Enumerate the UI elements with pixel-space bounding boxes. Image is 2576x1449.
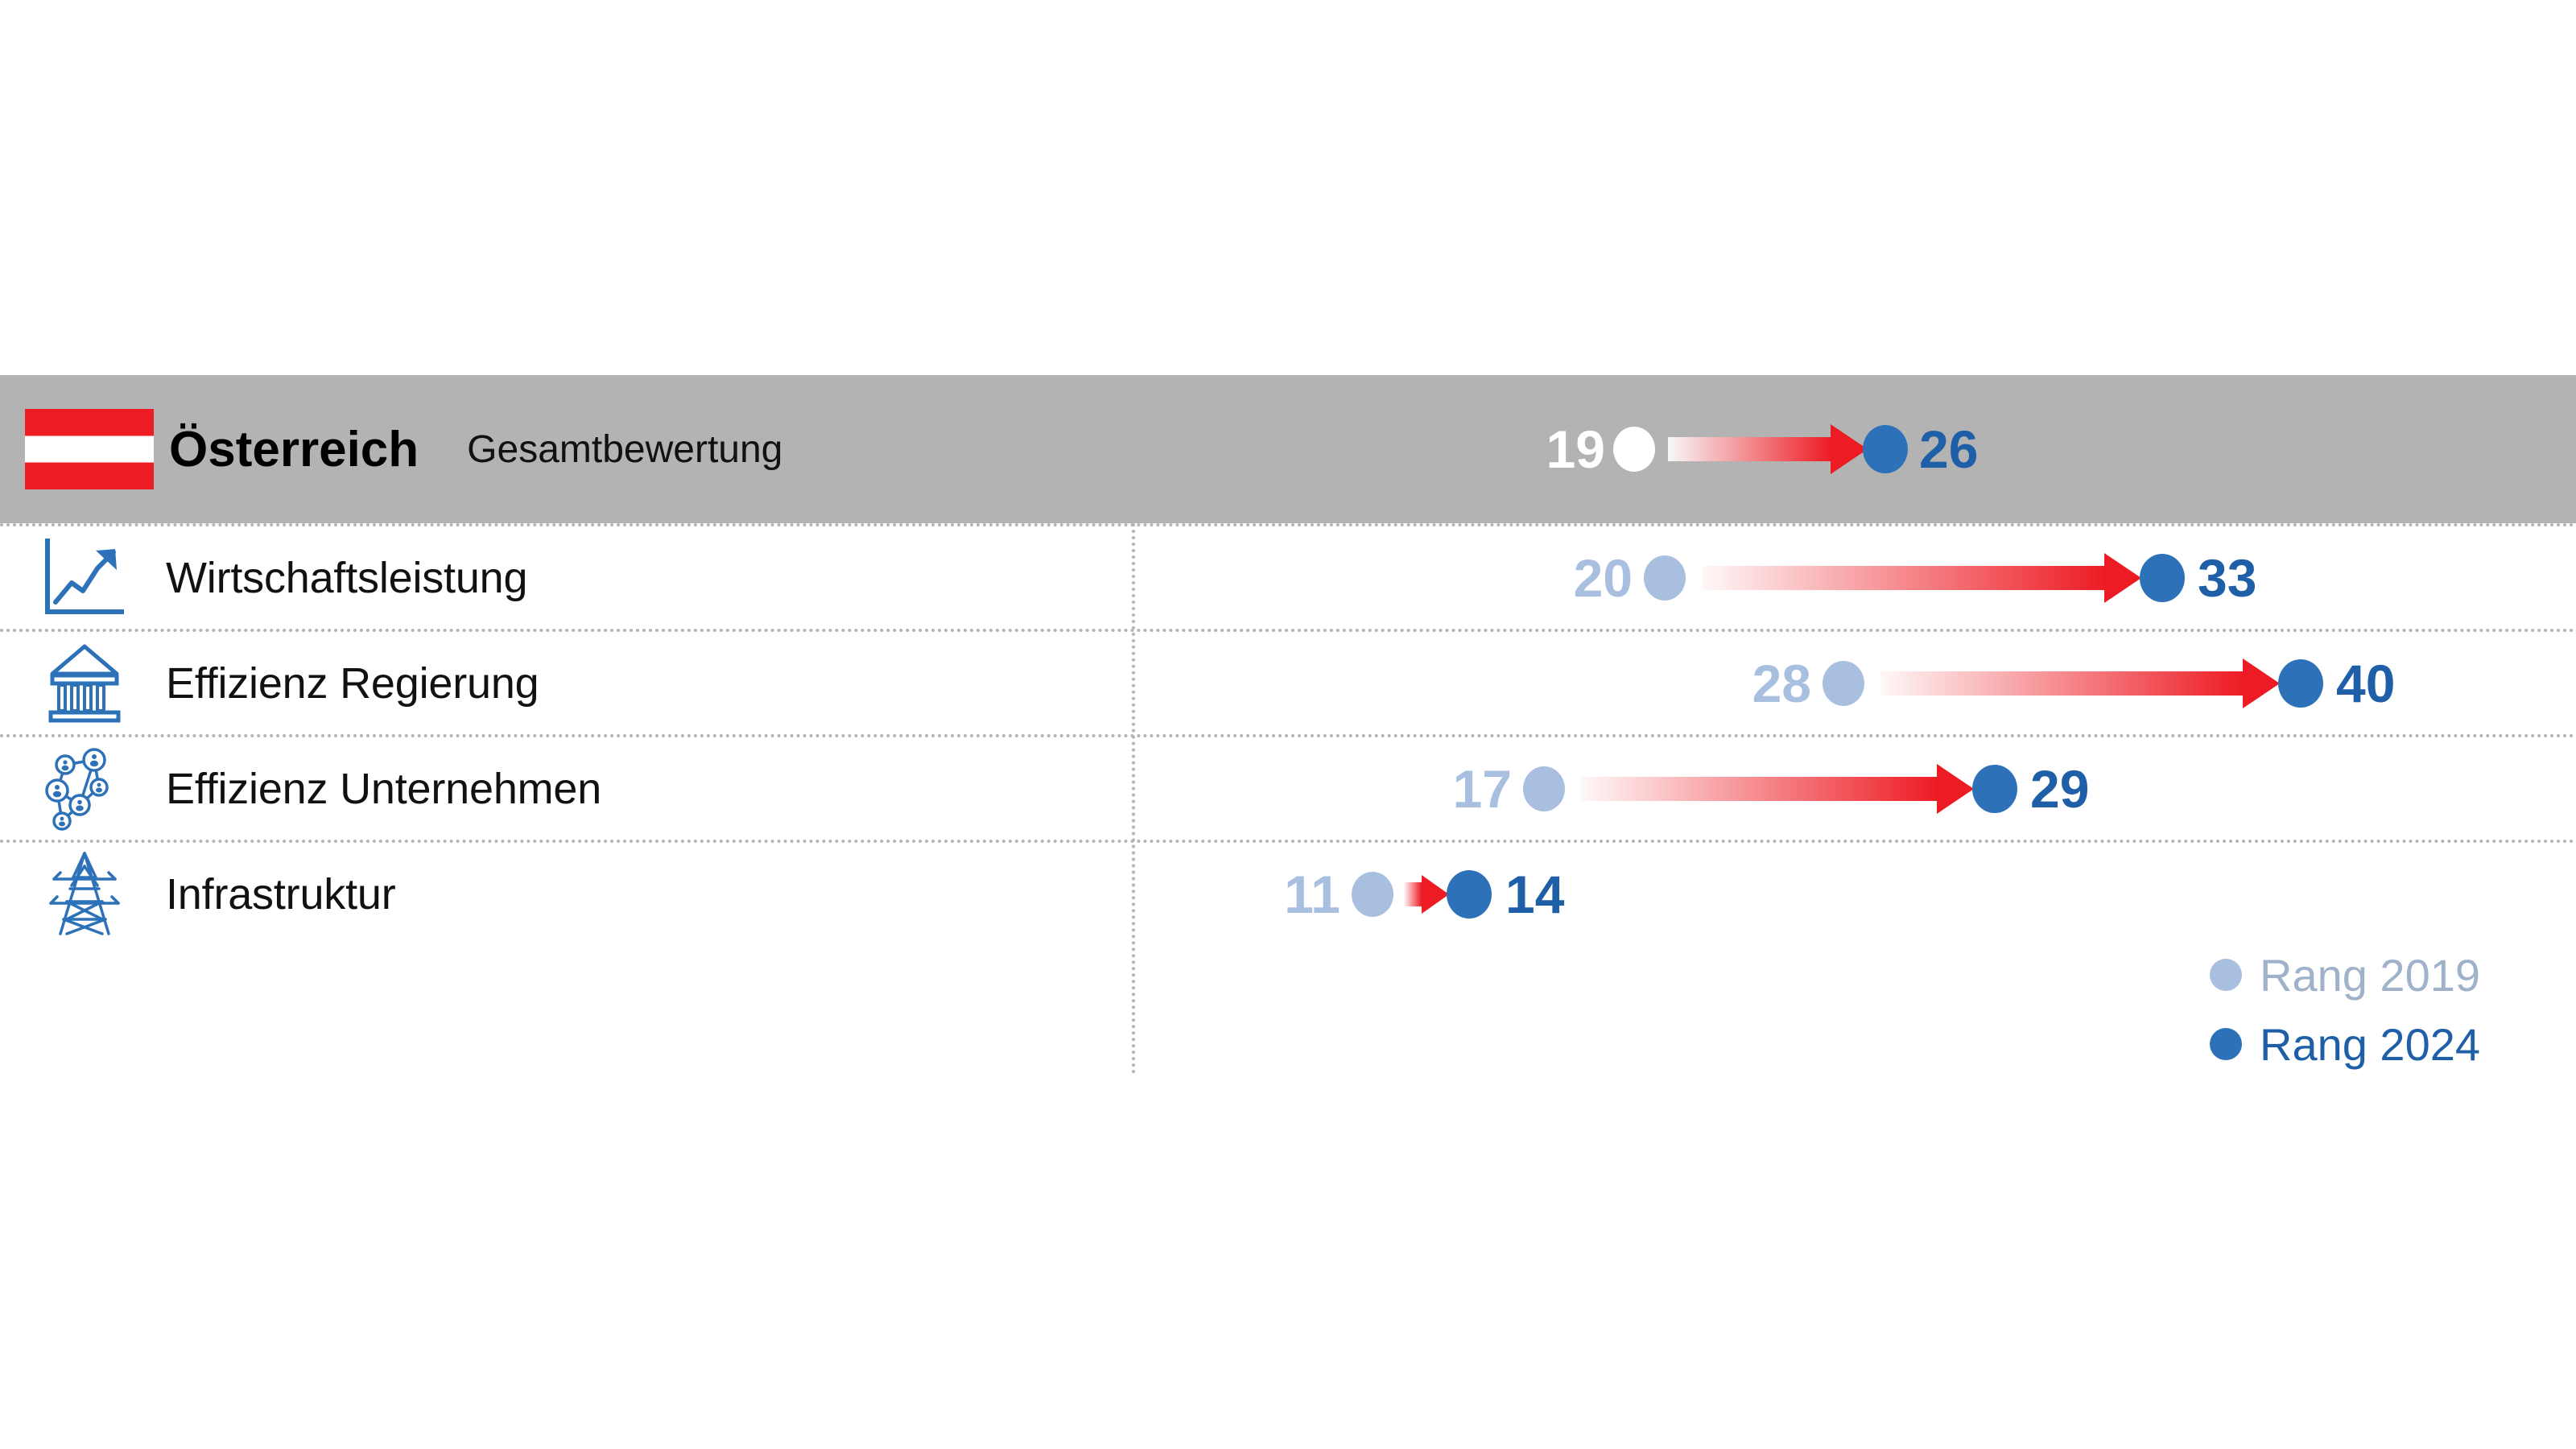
arrow-shaft	[1668, 437, 1831, 461]
legend-label-2019: Rang 2019	[2260, 949, 2480, 1001]
new-rank-value: 40	[2336, 657, 2395, 710]
business-network-icon-svg	[41, 745, 128, 832]
new-rank-dot	[1447, 870, 1492, 919]
table-row-overall: Österreich Gesamtbewertung 19 26	[0, 375, 2576, 523]
table-row: Effizienz Regierung 28 40	[0, 629, 2576, 734]
row-label-zone: Infrastruktur	[0, 843, 1133, 945]
old-rank-dot	[1823, 661, 1864, 706]
arrow-shaft	[1702, 566, 2104, 590]
row-label-zone: Wirtschaftsleistung	[0, 526, 1133, 629]
table-row: Effizienz Unternehmen 17 29	[0, 734, 2576, 840]
change-arrow	[1702, 566, 2141, 590]
new-rank-dot	[1972, 765, 2017, 813]
growth-chart-icon	[32, 538, 137, 618]
overall-plot-zone: 19 26	[1133, 375, 2576, 523]
austria-flag-icon	[37, 409, 142, 489]
old-rank-dot	[1644, 555, 1686, 601]
country-name: Österreich	[169, 421, 419, 478]
arrow-head	[2243, 658, 2280, 708]
old-rank-value: 19	[1546, 423, 1605, 476]
government-building-icon	[32, 642, 137, 725]
change-arrow	[1668, 437, 1868, 461]
arrow-shaft	[1404, 882, 1422, 906]
new-rank-value: 26	[1919, 423, 1978, 476]
arrow-head	[1422, 875, 1449, 914]
new-rank-value: 29	[2030, 762, 2089, 815]
change-arrow	[1404, 882, 1446, 906]
old-rank-dot	[1613, 427, 1655, 472]
old-rank-value: 28	[1752, 657, 1811, 710]
arrow-shaft	[1581, 777, 1937, 801]
row-plot-zone: 17 29	[1133, 737, 2576, 840]
row-plot-zone: 11 14	[1133, 843, 2576, 945]
row-label-zone: Effizienz Regierung	[0, 632, 1133, 734]
growth-chart-icon-svg	[41, 538, 128, 618]
flag-stripes	[25, 409, 154, 489]
new-rank-dot	[2278, 659, 2323, 708]
old-rank-value: 20	[1574, 551, 1633, 605]
new-rank-value: 14	[1505, 868, 1564, 921]
category-label: Effizienz Regierung	[166, 658, 539, 708]
legend-item-2019: Rang 2019	[2210, 940, 2548, 1009]
power-pylon-icon-svg	[43, 850, 126, 939]
row-label-zone: Effizienz Unternehmen	[0, 737, 1133, 840]
old-rank-dot	[1352, 872, 1393, 917]
overall-subtitle: Gesamtbewertung	[467, 427, 782, 472]
old-rank-dot	[1523, 766, 1565, 811]
category-label: Infrastruktur	[166, 869, 396, 919]
legend-dot-2024-icon	[2210, 1028, 2242, 1060]
ranking-table: Österreich Gesamtbewertung 19 26	[0, 375, 2576, 1074]
old-rank-value: 17	[1453, 762, 1512, 815]
change-arrow	[1880, 671, 2280, 696]
change-arrow	[1581, 777, 1974, 801]
infographic-canvas: Österreich Gesamtbewertung 19 26	[0, 0, 2576, 1449]
power-pylon-icon	[32, 850, 137, 939]
business-network-icon	[32, 745, 137, 832]
new-rank-dot	[2140, 554, 2185, 602]
legend: Rang 2019 Rang 2024	[2210, 940, 2548, 1079]
table-row: Infrastruktur 11 14	[0, 840, 2576, 945]
category-label: Wirtschaftsleistung	[166, 553, 527, 603]
arrow-shaft	[1880, 671, 2243, 696]
overall-label-zone: Österreich Gesamtbewertung	[0, 375, 1133, 523]
row-plot-zone: 20 33	[1133, 526, 2576, 629]
row-plot-zone: 28 40	[1133, 632, 2576, 734]
category-label: Effizienz Unternehmen	[166, 764, 601, 814]
legend-item-2024: Rang 2024	[2210, 1009, 2548, 1079]
column-divider	[1132, 523, 1135, 1074]
old-rank-value: 11	[1284, 868, 1340, 921]
arrow-head	[2104, 553, 2141, 603]
government-building-icon-svg	[43, 642, 126, 725]
arrow-head	[1937, 764, 1974, 814]
legend-dot-2019-icon	[2210, 959, 2242, 991]
new-rank-dot	[1863, 425, 1908, 473]
table-row: Wirtschaftsleistung 20 33	[0, 523, 2576, 629]
legend-label-2024: Rang 2024	[2260, 1018, 2480, 1071]
new-rank-value: 33	[2198, 551, 2256, 605]
